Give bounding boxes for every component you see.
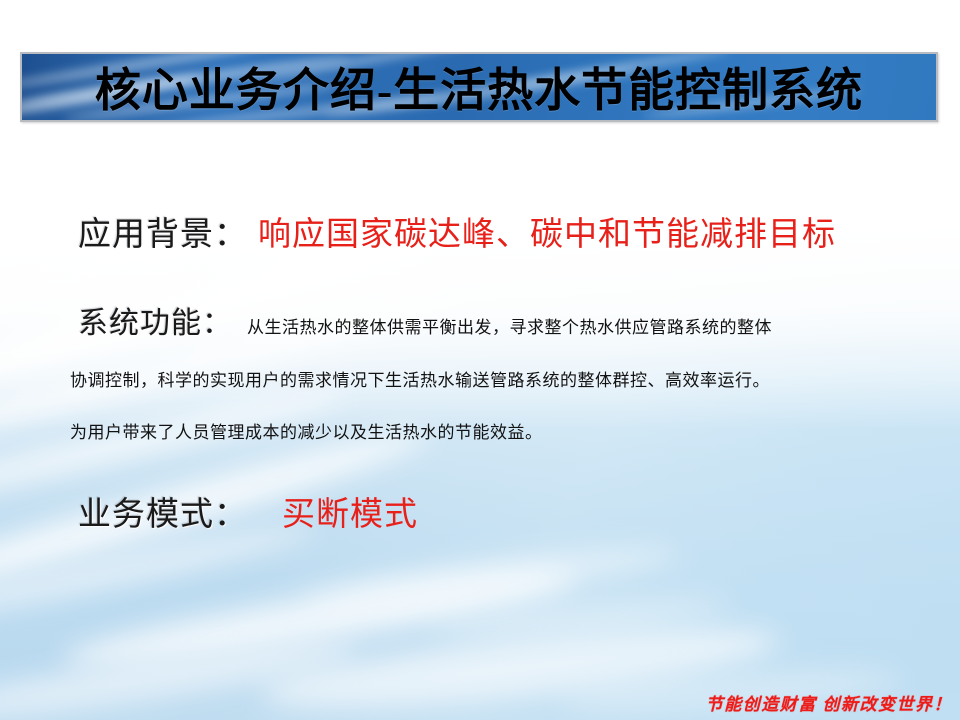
business-model-label: 业务模式： <box>78 497 248 533</box>
system-function-line-2-row: 协调控制，科学的实现用户的需求情况下生活热水输送管路系统的整体群控、高效率运行。 <box>70 366 770 391</box>
system-function-line-1: 从生活热水的整体供需平衡出发，寻求整个热水供应管路系统的整体 <box>247 318 772 337</box>
system-function-line-3-row: 为用户带来了人员管理成本的减少以及生活热水的节能效益。 <box>70 418 543 443</box>
section-business-model: 业务模式：买断模式 <box>78 487 418 535</box>
section-system-function: 系统功能：从生活热水的整体供需平衡出发，寻求整个热水供应管路系统的整体 <box>78 298 772 342</box>
system-function-line-3: 为用户带来了人员管理成本的减少以及生活热水的节能效益。 <box>70 423 543 442</box>
slide-content: 应用背景：响应国家碳达峰、碳中和节能减排目标 系统功能：从生活热水的整体供需平衡… <box>0 0 960 720</box>
footer-slogan: 节能创造财富 创新改变世界！ <box>706 690 952 715</box>
system-function-label: 系统功能： <box>78 307 233 340</box>
slide-root: 核心业务介绍-生活热水节能控制系统 应用背景：响应国家碳达峰、碳中和节能减排目标… <box>0 0 960 720</box>
section-application-background: 应用背景：响应国家碳达峰、碳中和节能减排目标 <box>78 207 836 255</box>
application-background-label: 应用背景： <box>78 217 248 253</box>
application-background-value: 响应国家碳达峰、碳中和节能减排目标 <box>258 217 836 253</box>
system-function-line-2: 协调控制，科学的实现用户的需求情况下生活热水输送管路系统的整体群控、高效率运行。 <box>70 371 770 390</box>
business-model-value: 买断模式 <box>282 497 418 533</box>
